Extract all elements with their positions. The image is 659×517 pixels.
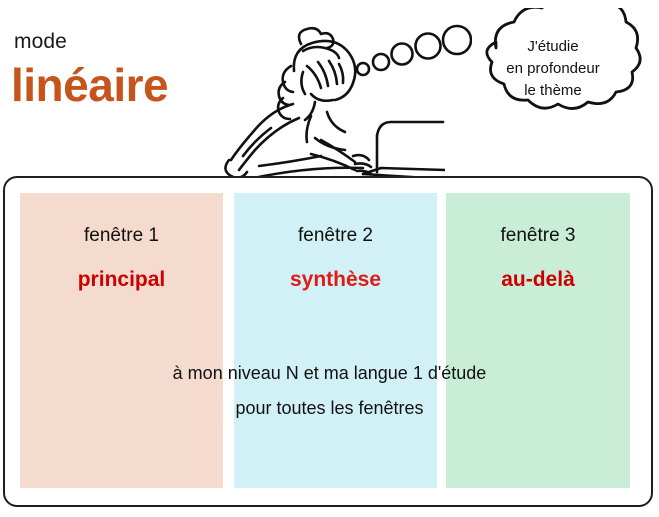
window-3-name: au-delà: [446, 268, 630, 292]
mode-label: mode: [14, 30, 67, 54]
thought-bubble-line-3: le thème: [472, 80, 634, 102]
window-1-heading: fenêtre 1: [20, 225, 223, 247]
window-3-heading: fenêtre 3: [446, 225, 630, 247]
window-column-2[interactable]: fenêtre 2 synthèse: [234, 193, 437, 488]
slide-canvas: mode linéaire: [0, 0, 659, 517]
thought-bubble-text: J'étudie en profondeur le thème: [472, 36, 634, 101]
window-column-3[interactable]: fenêtre 3 au-delà: [446, 193, 630, 488]
thought-bubble-line-2: en profondeur: [472, 58, 634, 80]
window-2-heading: fenêtre 2: [234, 225, 437, 247]
thought-bubble-line-1: J'étudie: [472, 36, 634, 58]
window-1-name: principal: [20, 268, 223, 292]
window-column-1[interactable]: fenêtre 1 principal: [20, 193, 223, 488]
window-2-name: synthèse: [234, 268, 437, 292]
mode-value: linéaire: [11, 62, 168, 108]
windows-columns: fenêtre 1 principal fenêtre 2 synthèse f…: [3, 193, 656, 488]
